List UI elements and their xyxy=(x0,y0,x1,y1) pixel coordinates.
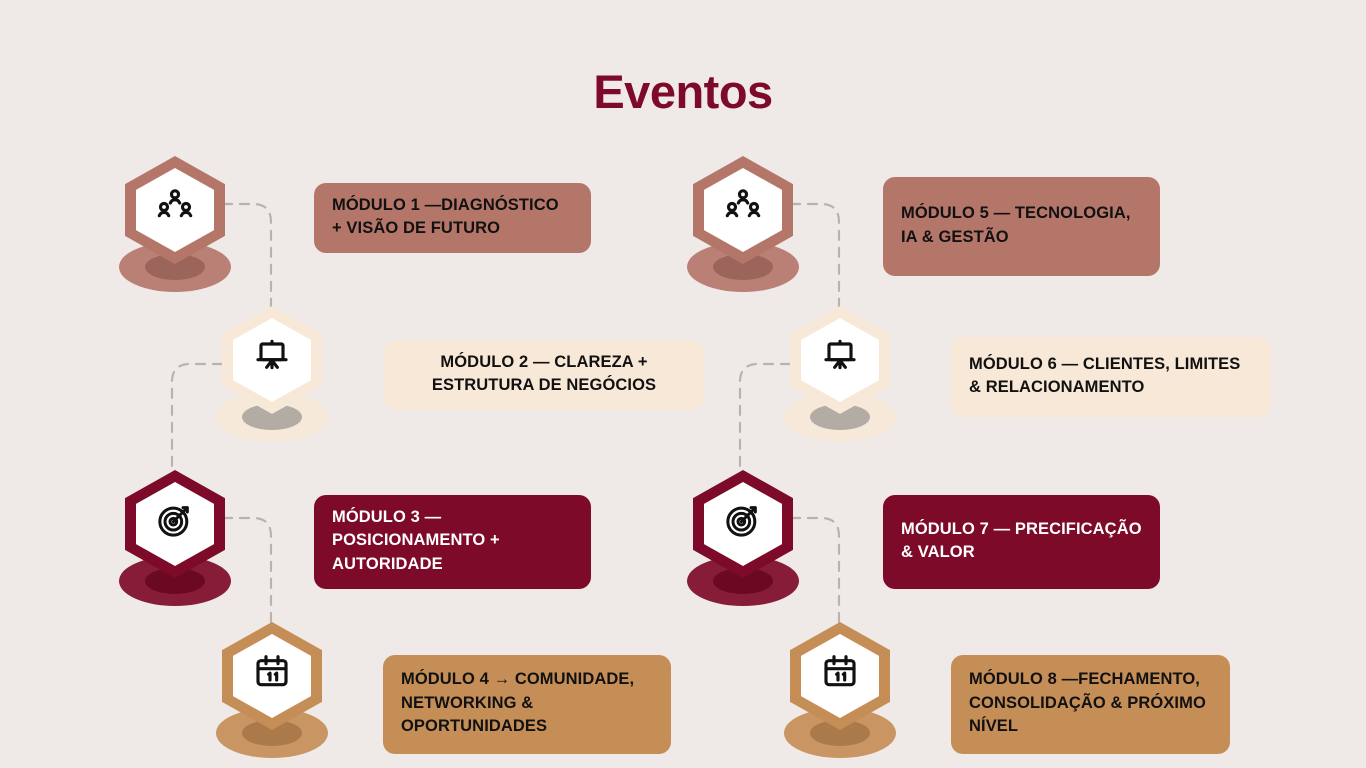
module-card-modulo-8[interactable]: MÓDULO 8 —FECHAMENTO, CONSOLIDAÇÃO & PRÓ… xyxy=(951,655,1230,754)
module-card-modulo-7[interactable]: MÓDULO 7 — PRECIFICAÇÃO & VALOR xyxy=(883,495,1160,589)
target-arrow-icon xyxy=(155,500,195,540)
module-card-modulo-6[interactable]: MÓDULO 6 — CLIENTES, LIMITES & RELACIONA… xyxy=(951,337,1271,417)
pin-marker-modulo-4[interactable] xyxy=(216,622,328,758)
module-card-label: MÓDULO 7 — PRECIFICAÇÃO & VALOR xyxy=(901,518,1142,565)
pin-marker-modulo-5[interactable] xyxy=(687,156,799,292)
module-card-modulo-2[interactable]: MÓDULO 2 — CLAREZA + ESTRUTURA DE NEGÓCI… xyxy=(384,340,704,410)
module-card-label: MÓDULO 2 — CLAREZA + ESTRUTURA DE NEGÓCI… xyxy=(402,351,686,398)
people-group-icon xyxy=(723,186,763,226)
pin-marker-modulo-1[interactable] xyxy=(119,156,231,292)
page-title: Eventos xyxy=(0,64,1366,119)
calendar-icon xyxy=(252,652,292,692)
module-card-modulo-3[interactable]: MÓDULO 3 — POSICIONAMENTO + AUTORIDADE xyxy=(314,495,591,589)
people-group-icon xyxy=(155,186,195,226)
pin-marker-modulo-8[interactable] xyxy=(784,622,896,758)
module-card-label: MÓDULO 4 → COMUNIDADE, NETWORKING & OPOR… xyxy=(401,668,653,738)
pin-marker-modulo-7[interactable] xyxy=(687,470,799,606)
module-card-label: MÓDULO 5 — TECNOLOGIA, IA & GESTÃO xyxy=(901,202,1142,249)
module-card-label: MÓDULO 6 — CLIENTES, LIMITES & RELACIONA… xyxy=(969,353,1253,400)
target-arrow-icon xyxy=(723,500,763,540)
module-card-label: MÓDULO 8 —FECHAMENTO, CONSOLIDAÇÃO & PRÓ… xyxy=(969,668,1212,738)
calendar-icon xyxy=(820,652,860,692)
pin-marker-modulo-2[interactable] xyxy=(216,306,328,442)
pin-marker-modulo-3[interactable] xyxy=(119,470,231,606)
presentation-board-icon xyxy=(820,336,860,376)
module-card-modulo-4[interactable]: MÓDULO 4 → COMUNIDADE, NETWORKING & OPOR… xyxy=(383,655,671,754)
module-card-modulo-1[interactable]: MÓDULO 1 —DIAGNÓSTICO + VISÃO DE FUTURO xyxy=(314,183,591,253)
module-card-label: MÓDULO 1 —DIAGNÓSTICO + VISÃO DE FUTURO xyxy=(332,194,573,241)
module-card-label: MÓDULO 3 — POSICIONAMENTO + AUTORIDADE xyxy=(332,506,573,576)
module-card-modulo-5[interactable]: MÓDULO 5 — TECNOLOGIA, IA & GESTÃO xyxy=(883,177,1160,276)
slide-canvas: Eventos xyxy=(0,0,1366,768)
pin-marker-modulo-6[interactable] xyxy=(784,306,896,442)
presentation-board-icon xyxy=(252,336,292,376)
